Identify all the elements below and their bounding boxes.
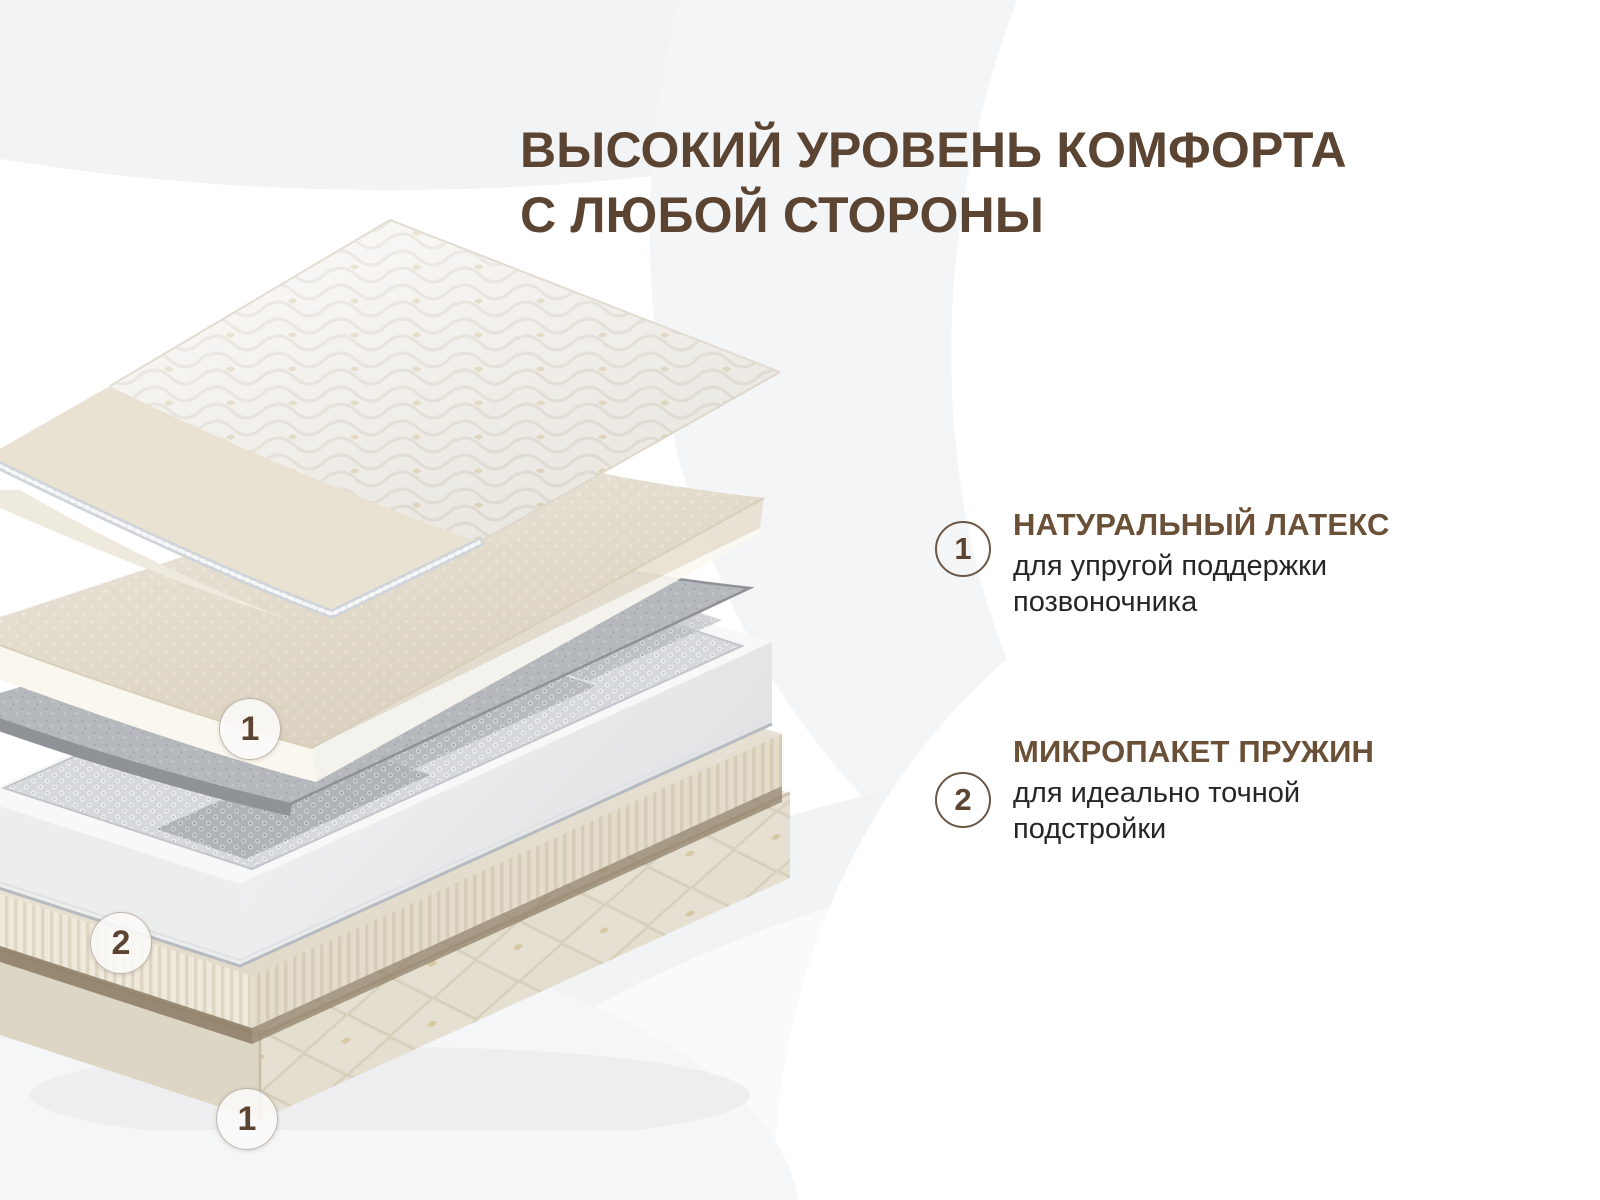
feature-description-1: для упругой поддержки позвоночника	[1013, 548, 1390, 621]
feature-text-2: МИКРОПАКЕТ ПРУЖИН для идеально точной по…	[1013, 732, 1374, 848]
feature-item-springs: 2 МИКРОПАКЕТ ПРУЖИН для идеально точной …	[935, 732, 1535, 848]
feature-item-latex: 1 НАТУРАЛЬНЫЙ ЛАТЕКС для упругой поддерж…	[935, 505, 1535, 621]
layer-badge-base: 1	[216, 1088, 278, 1150]
page-title: ВЫСОКИЙ УРОВЕНЬ КОМФОРТА С ЛЮБОЙ СТОРОНЫ	[520, 118, 1520, 248]
mattress-svg	[0, 190, 860, 1130]
feature-number-1: 1	[935, 521, 991, 577]
feature-number-2: 2	[935, 772, 991, 828]
layer-badge-latex: 1	[219, 698, 281, 760]
headline-block: ВЫСОКИЙ УРОВЕНЬ КОМФОРТА С ЛЮБОЙ СТОРОНЫ	[520, 118, 1520, 248]
poster-canvas: ВЫСОКИЙ УРОВЕНЬ КОМФОРТА С ЛЮБОЙ СТОРОНЫ	[0, 0, 1600, 1200]
mattress-illustration: 1 2 1	[0, 190, 860, 1135]
feature-description-2: для идеально точной подстройки	[1013, 775, 1374, 848]
layer-badge-spring: 2	[90, 912, 152, 974]
feature-title-1: НАТУРАЛЬНЫЙ ЛАТЕКС	[1013, 507, 1390, 544]
feature-title-2: МИКРОПАКЕТ ПРУЖИН	[1013, 734, 1374, 771]
feature-text-1: НАТУРАЛЬНЫЙ ЛАТЕКС для упругой поддержки…	[1013, 505, 1390, 621]
